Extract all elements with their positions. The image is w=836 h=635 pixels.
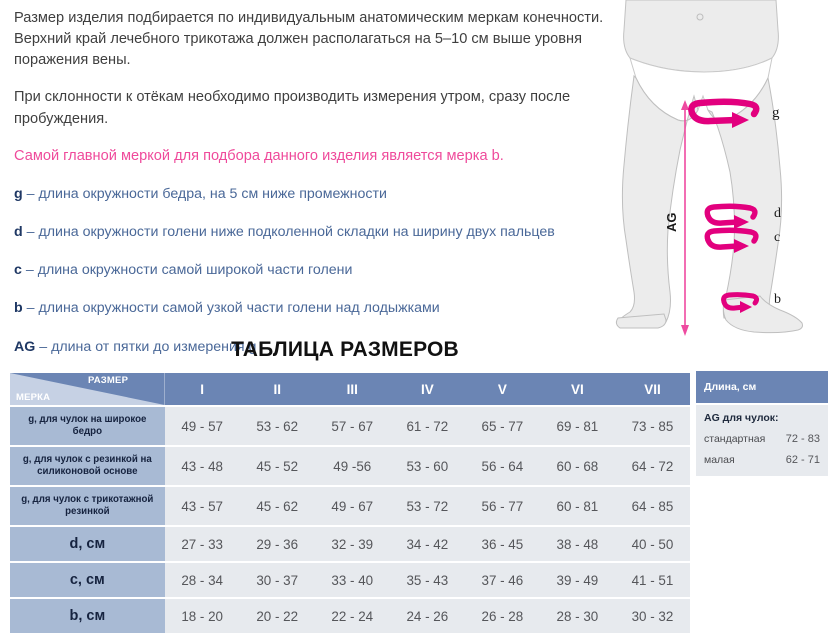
intro-paragraph-1: Размер изделия подбирается по индивидуал… xyxy=(14,8,614,71)
definition-c: c – длина окружности самой широкой части… xyxy=(14,261,614,280)
size-table-title: ТАБЛИЦА РАЗМЕРОВ xyxy=(0,338,690,362)
cell-r1-c6: 60 - 68 xyxy=(540,447,615,485)
key-measurement-note: Самой главной меркой для подбора данного… xyxy=(14,146,614,167)
table-row: g, для чулок с резинкой на силиконовой о… xyxy=(10,447,690,485)
cell-r0-c2: 53 - 62 xyxy=(240,407,315,445)
cell-r3-c1: 27 - 33 xyxy=(165,527,240,561)
column-header-1: I xyxy=(165,373,240,405)
definition-dash-c: – xyxy=(26,262,34,278)
cell-r3-c4: 34 - 42 xyxy=(390,527,465,561)
size-table-header-row: МЕРКА РАЗМЕР I II III IV V VI VII xyxy=(10,373,690,405)
cell-r0-c5: 65 - 77 xyxy=(465,407,540,445)
cell-r5-c2: 20 - 22 xyxy=(240,599,315,633)
cell-r3-c7: 40 - 50 xyxy=(615,527,690,561)
leg-measurement-illustration: AG g d c b xyxy=(604,0,836,350)
corner-row-label: МЕРКА xyxy=(16,392,50,403)
cell-r4-c7: 41 - 51 xyxy=(615,563,690,597)
length-value-standard: 72 - 83 xyxy=(786,433,820,445)
length-name-small: малая xyxy=(704,454,735,466)
cell-r0-c7: 73 - 85 xyxy=(615,407,690,445)
length-panel-title: AG для чулок: xyxy=(704,412,820,424)
marker-label-g: g xyxy=(772,105,780,121)
corner-col-label: РАЗМЕР xyxy=(88,375,128,386)
instructions-text-block: Размер изделия подбирается по индивидуал… xyxy=(14,8,614,376)
row-label-b: b, см xyxy=(10,599,165,633)
definition-b: b – длина окружности самой узкой части г… xyxy=(14,299,614,318)
length-panel-header: Длина, см xyxy=(696,371,828,403)
cell-r5-c3: 22 - 24 xyxy=(315,599,390,633)
cell-r3-c6: 38 - 48 xyxy=(540,527,615,561)
column-header-3: III xyxy=(315,373,390,405)
cell-r0-c6: 69 - 81 xyxy=(540,407,615,445)
cell-r3-c5: 36 - 45 xyxy=(465,527,540,561)
column-header-5: V xyxy=(465,373,540,405)
cell-r2-c7: 64 - 85 xyxy=(615,487,690,525)
definition-text-b: длина окружности самой узкой части голен… xyxy=(38,300,439,316)
cell-r2-c3: 49 - 67 xyxy=(315,487,390,525)
length-name-standard: стандартная xyxy=(704,433,765,445)
length-panel-body: AG для чулок: стандартная 72 - 83 малая … xyxy=(696,405,828,476)
cell-r2-c4: 53 - 72 xyxy=(390,487,465,525)
definition-d: d – длина окружности голени ниже подколе… xyxy=(14,223,614,242)
cell-r0-c1: 49 - 57 xyxy=(165,407,240,445)
table-row: g, для чулок с трикотажной резинкой 43 -… xyxy=(10,487,690,525)
column-header-2: II xyxy=(240,373,315,405)
corner-header-cell: МЕРКА РАЗМЕР xyxy=(10,373,165,405)
intro-paragraph-2: При склонности к отёкам необходимо произ… xyxy=(14,87,614,129)
row-label-c: c, см xyxy=(10,563,165,597)
cell-r5-c4: 24 - 26 xyxy=(390,599,465,633)
marker-label-b: b xyxy=(774,292,781,307)
definition-key-g: g xyxy=(14,186,23,202)
definition-dash-b: – xyxy=(27,300,35,316)
cell-r1-c2: 45 - 52 xyxy=(240,447,315,485)
cell-r3-c2: 29 - 36 xyxy=(240,527,315,561)
length-row-small: малая 62 - 71 xyxy=(704,454,820,466)
row-label-d: d, см xyxy=(10,527,165,561)
cell-r5-c6: 28 - 30 xyxy=(540,599,615,633)
definition-text-d: длина окружности голени ниже подколенной… xyxy=(38,224,554,240)
cell-r5-c1: 18 - 20 xyxy=(165,599,240,633)
cell-r4-c2: 30 - 37 xyxy=(240,563,315,597)
measurement-definitions-list: g – длина окружности бедра, на 5 см ниже… xyxy=(14,185,614,357)
marker-label-d: d xyxy=(774,206,781,221)
row-label-g-silicone: g, для чулок с резинкой на силиконовой о… xyxy=(10,447,165,485)
marker-label-c: c xyxy=(774,230,780,245)
cell-r4-c6: 39 - 49 xyxy=(540,563,615,597)
cell-r5-c7: 30 - 32 xyxy=(615,599,690,633)
cell-r2-c6: 60 - 81 xyxy=(540,487,615,525)
definition-text-g: длина окружности бедра, на 5 см ниже про… xyxy=(38,186,386,202)
body-figure-shape xyxy=(616,0,802,333)
definition-text-c: длина окружности самой широкой части гол… xyxy=(38,262,353,278)
cell-r2-c2: 45 - 62 xyxy=(240,487,315,525)
cell-r2-c1: 43 - 57 xyxy=(165,487,240,525)
table-row: g, для чулок на широкое бедро 49 - 57 53… xyxy=(10,407,690,445)
cell-r1-c1: 43 - 48 xyxy=(165,447,240,485)
cell-r4-c3: 33 - 40 xyxy=(315,563,390,597)
cell-r2-c5: 56 - 77 xyxy=(465,487,540,525)
definition-dash-g: – xyxy=(27,186,35,202)
definition-key-d: d xyxy=(14,224,23,240)
cell-r4-c1: 28 - 34 xyxy=(165,563,240,597)
cell-r3-c3: 32 - 39 xyxy=(315,527,390,561)
definition-g: g – длина окружности бедра, на 5 см ниже… xyxy=(14,185,614,204)
row-label-g-knit: g, для чулок с трикотажной резинкой xyxy=(10,487,165,525)
row-label-g-wide-thigh: g, для чулок на широкое бедро xyxy=(10,407,165,445)
cell-r0-c4: 61 - 72 xyxy=(390,407,465,445)
table-row: c, см 28 - 34 30 - 37 33 - 40 35 - 43 37… xyxy=(10,563,690,597)
column-header-4: IV xyxy=(390,373,465,405)
marker-label-ag: AG xyxy=(664,213,679,233)
definition-key-c: c xyxy=(14,262,22,278)
length-value-small: 62 - 71 xyxy=(786,454,820,466)
cell-r1-c5: 56 - 64 xyxy=(465,447,540,485)
cell-r1-c4: 53 - 60 xyxy=(390,447,465,485)
cell-r1-c7: 64 - 72 xyxy=(615,447,690,485)
length-row-standard: стандартная 72 - 83 xyxy=(704,433,820,445)
column-header-7: VII xyxy=(615,373,690,405)
cell-r5-c5: 26 - 28 xyxy=(465,599,540,633)
cell-r4-c4: 35 - 43 xyxy=(390,563,465,597)
length-panel: Длина, см AG для чулок: стандартная 72 -… xyxy=(696,371,828,476)
table-row: b, см 18 - 20 20 - 22 22 - 24 24 - 26 26… xyxy=(10,599,690,633)
size-table: МЕРКА РАЗМЕР I II III IV V VI VII g, для… xyxy=(10,371,690,635)
column-header-6: VI xyxy=(540,373,615,405)
cell-r0-c3: 57 - 67 xyxy=(315,407,390,445)
cell-r4-c5: 37 - 46 xyxy=(465,563,540,597)
definition-dash-d: – xyxy=(27,224,35,240)
definition-key-b: b xyxy=(14,300,23,316)
table-row: d, см 27 - 33 29 - 36 32 - 39 34 - 42 36… xyxy=(10,527,690,561)
cell-r1-c3: 49 -56 xyxy=(315,447,390,485)
